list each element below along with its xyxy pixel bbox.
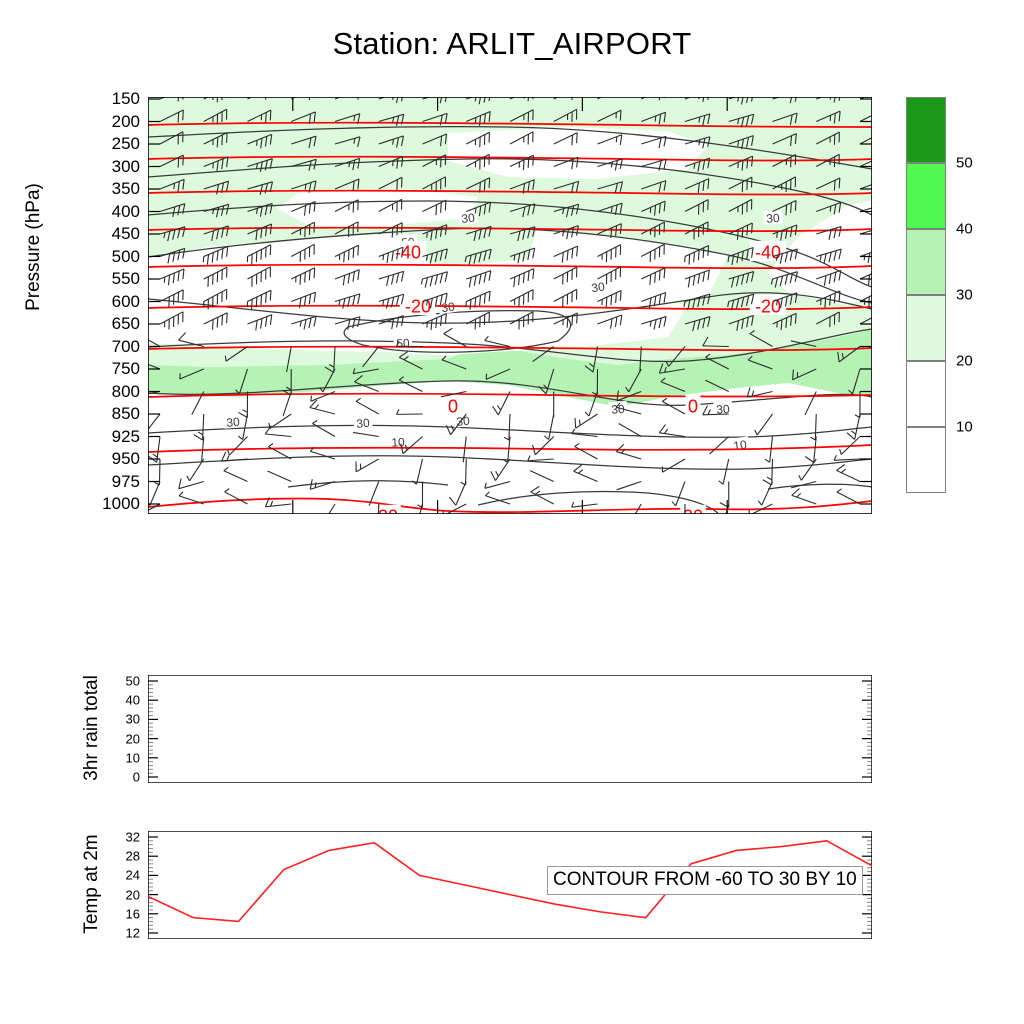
lower-y-tick-label: 50	[106, 674, 140, 689]
page-title: Station: ARLIT_AIRPORT	[0, 26, 1024, 62]
main-y-tick-label: 850	[80, 404, 140, 424]
main-y-tick-label: 600	[80, 292, 140, 312]
colorbar-cell[interactable]	[906, 361, 946, 427]
main-plot-svg: 3030303030303030303050501010-40-40-20-20…	[148, 97, 872, 514]
main-y-axis-labels: 1502002503003504004505005506006507007508…	[80, 97, 140, 514]
main-y-tick-label: 975	[80, 472, 140, 492]
svg-text:30: 30	[590, 279, 605, 295]
lower-y-tick-label: 16	[106, 906, 140, 921]
main-y-tick-label: 450	[80, 224, 140, 244]
main-y-tick-label: 750	[80, 359, 140, 379]
svg-text:10: 10	[732, 437, 747, 453]
lower-y-tick-label: 40	[106, 693, 140, 708]
main-y-tick-label: 1000	[80, 494, 140, 514]
main-y-tick-label: 200	[80, 112, 140, 132]
svg-text:0: 0	[688, 396, 698, 416]
lower-panel-axis-title: Temp at 2m	[81, 754, 103, 1014]
main-y-tick-label: 350	[80, 179, 140, 199]
svg-text:30: 30	[766, 211, 781, 226]
svg-text:0: 0	[448, 396, 458, 416]
svg-text:-40: -40	[395, 242, 421, 262]
lower-y-tick-label: 24	[106, 868, 140, 883]
colorbar-tick-label: 30	[956, 287, 973, 304]
lower-y-tick-label: 12	[106, 926, 140, 941]
lower-y-tick-label: 28	[106, 849, 140, 864]
main-y-tick-label: 925	[80, 427, 140, 447]
main-y-tick-label: 300	[80, 157, 140, 177]
time-height-cross-section[interactable]: 3030303030303030303050501010-40-40-20-20…	[148, 97, 872, 514]
main-y-tick-label: 950	[80, 449, 140, 469]
svg-text:30: 30	[440, 299, 455, 315]
colorbar[interactable]: 5040302010	[906, 97, 946, 493]
svg-text:30: 30	[461, 211, 476, 226]
colorbar-tick-label: 10	[956, 419, 973, 436]
main-y-tick-label: 150	[80, 89, 140, 109]
rain-panel[interactable]: 504030201003hr rain total	[148, 675, 872, 783]
lower-y-tick-label: 0	[106, 770, 140, 785]
lower-y-tick-label: 30	[106, 712, 140, 727]
colorbar-cell[interactable]	[906, 427, 946, 493]
lower-y-tick-label: 32	[106, 830, 140, 845]
contour-annotation: CONTOUR FROM -60 TO 30 BY 10	[547, 866, 863, 895]
colorbar-cell[interactable]	[906, 295, 946, 361]
colorbar-cell[interactable]	[906, 97, 946, 163]
main-y-axis-title: Pressure (hPa)	[23, 117, 45, 377]
colorbar-cell[interactable]	[906, 229, 946, 295]
main-y-tick-label: 400	[80, 202, 140, 222]
main-y-tick-label: 500	[80, 247, 140, 267]
main-y-tick-label: 800	[80, 382, 140, 402]
lower-y-tick-label: 20	[106, 731, 140, 746]
colorbar-cell[interactable]	[906, 163, 946, 229]
colorbar-tick-label: 20	[956, 353, 973, 370]
main-y-tick-label: 250	[80, 134, 140, 154]
colorbar-tick-label: 50	[956, 155, 973, 172]
chart-page: Station: ARLIT_AIRPORT 15020025030035040…	[0, 0, 1024, 1024]
svg-text:30: 30	[356, 416, 371, 431]
main-y-tick-label: 650	[80, 314, 140, 334]
main-y-tick-label: 550	[80, 269, 140, 289]
rain-plot-svg	[148, 675, 872, 783]
svg-text:20: 20	[683, 506, 703, 514]
svg-text:30: 30	[226, 415, 241, 430]
colorbar-tick-label: 40	[956, 221, 973, 238]
svg-text:20: 20	[378, 506, 398, 514]
lower-y-tick-label: 10	[106, 750, 140, 765]
main-y-tick-label: 700	[80, 337, 140, 357]
lower-y-tick-label: 20	[106, 887, 140, 902]
